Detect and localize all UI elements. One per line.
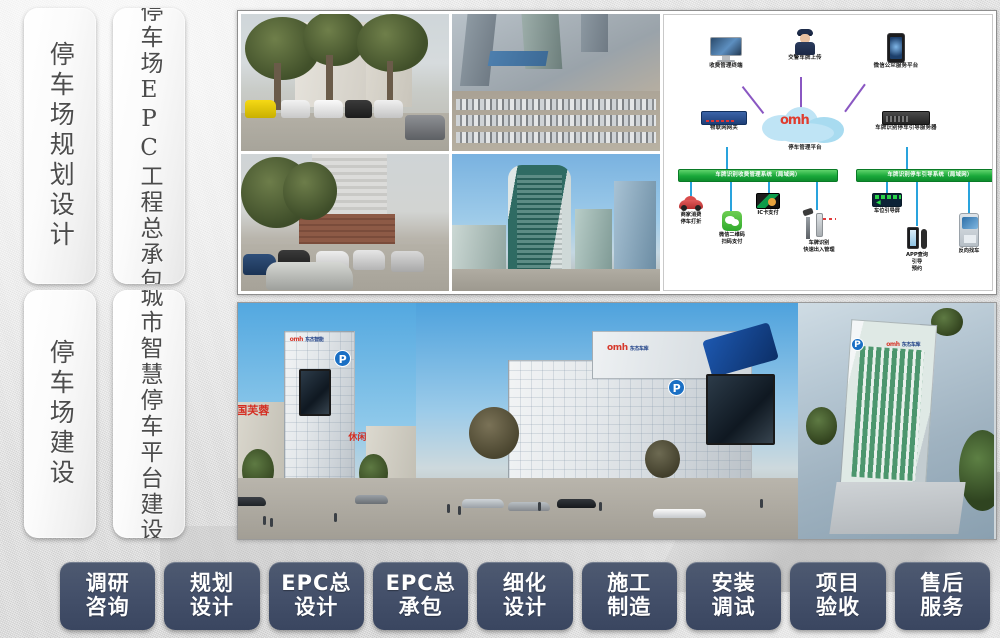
pill-line-2: 承包: [399, 596, 443, 620]
top-panel: omh 停车管理平台 收费管理终端 交警车牌上传 微信公众服务平台: [237, 10, 997, 295]
monitor-icon: [710, 37, 742, 62]
sidebar-card-label: 停车场建设: [45, 339, 76, 489]
nav-detailed-design[interactable]: 细化 设计: [477, 562, 572, 630]
wechat-icon: [722, 211, 742, 231]
sidebar-item-parking-epc-contract[interactable]: 停车场EPC工程总承包: [113, 8, 185, 284]
kiosk-icon: [959, 213, 979, 247]
node-label: 交警车牌上传: [759, 55, 851, 62]
pill-line-2: 设计: [190, 596, 234, 620]
service-app-query-guidance-booking: APP查询 引导 预约: [894, 225, 940, 273]
nav-planning-design[interactable]: 规划 设计: [164, 562, 259, 630]
sidebar-item-parking-planning-design[interactable]: 停车场规划设计: [24, 8, 96, 284]
pill-line-2: 咨询: [86, 596, 130, 620]
node-wechat-public-service-platform: 微信公众服务平台: [850, 33, 942, 70]
service-reverse-car-finding: 反向找车: [948, 213, 990, 255]
sidebar-vertical-cards: 停车场规划设计 停车场EPC工程总承包 停车场建设 城市智慧停车平台建设: [0, 0, 200, 546]
brand-logo: omh东杰智能: [290, 336, 324, 343]
photo-surface-lot-trees: [241, 14, 449, 151]
pill-line-2: 服务: [920, 596, 964, 620]
page-background: 停车场规划设计 停车场EPC工程总承包 停车场建设 城市智慧停车平台建设: [0, 0, 1000, 638]
led-screen-icon: [872, 193, 902, 207]
police-officer-icon: [794, 29, 816, 55]
app-phone-icon: [907, 225, 927, 251]
service-ic-card-payment: IC卡支付: [746, 193, 790, 217]
pill-line-2: 调试: [712, 596, 756, 620]
pill-line-1: 规划: [190, 572, 234, 596]
network-gateway-icon: [701, 111, 747, 125]
render-sign-2: 休闲: [348, 430, 366, 443]
parking-badge: P: [668, 379, 685, 396]
node-label: 物联网网关: [678, 125, 770, 132]
pill-line-1: EPC总: [386, 572, 456, 596]
photo-aerial-parking-lot: [452, 14, 660, 151]
process-step-nav: 调研 咨询 规划 设计 EPC总 设计 EPC总 承包 细化 设计 施工 制造 …: [60, 560, 990, 632]
nav-research-consulting[interactable]: 调研 咨询: [60, 562, 155, 630]
brand-logo: omh东杰车库: [607, 343, 648, 353]
cloud-platform-icon: omh: [760, 103, 850, 145]
brand-logo: omh东杰车库: [886, 341, 920, 348]
pill-line-2: 设计: [503, 596, 547, 620]
pill-line-1: 调研: [86, 572, 130, 596]
omh-cloud-logo: omh: [780, 113, 809, 128]
service-label: IC卡支付: [746, 210, 790, 217]
rack-server-icon: [882, 111, 930, 125]
pill-line-1: EPC总: [281, 572, 351, 596]
sidebar-card-label: 停车场EPC工程总承包: [135, 8, 163, 284]
nav-epc-contracting[interactable]: EPC总 承包: [373, 562, 468, 630]
ic-card-icon: [756, 193, 780, 209]
service-label: 车位引导屏: [864, 208, 910, 215]
parking-system-architecture-diagram: omh 停车管理平台 收费管理终端 交警车牌上传 微信公众服务平台: [663, 14, 993, 291]
render-garage-facade-led: omh东杰车库 P: [416, 303, 798, 539]
render-gallery: omh东杰智能 P 国芙蓉 休闲 omh东杰车库 P: [237, 302, 997, 540]
node-label: 收费管理终端: [680, 63, 772, 70]
service-plate-recognition-access: 车牌识别 快速出入管理: [794, 209, 844, 254]
nav-install-commission[interactable]: 安装 调试: [686, 562, 781, 630]
pill-line-2: 验收: [816, 596, 860, 620]
service-label: 车牌识别 快速出入管理: [794, 240, 844, 254]
node-iot-gateway: 物联网网关: [678, 111, 770, 132]
service-parking-guidance-screen: 车位引导屏: [864, 193, 910, 215]
node-plate-recognition-guidance-server: 车牌识别停车引导服务器: [852, 111, 960, 132]
nav-after-sales[interactable]: 售后 服务: [895, 562, 990, 630]
pill-line-1: 施工: [607, 572, 651, 596]
nav-epc-design[interactable]: EPC总 设计: [269, 562, 364, 630]
pill-line-1: 安装: [712, 572, 756, 596]
node-traffic-police-plate-upload: 交警车牌上传: [759, 29, 851, 62]
node-label: 微信公众服务平台: [850, 63, 942, 70]
nav-construction-mfg[interactable]: 施工 制造: [582, 562, 677, 630]
photo-lot-brick-building: [241, 154, 449, 291]
system-bar-plate-recognition-guidance-system: 车牌识别停车引导系统（局域网）: [856, 169, 993, 182]
pill-line-1: 项目: [816, 572, 860, 596]
service-label: 微信二维码 扫码支付: [708, 232, 756, 246]
smartphone-icon: [887, 33, 905, 63]
photo-gallery: [238, 11, 663, 294]
pill-line-1: 细化: [503, 572, 547, 596]
sidebar-card-label: 城市智慧停车平台建设: [135, 290, 163, 538]
pill-line-2: 制造: [607, 596, 651, 620]
sidebar-card-label: 停车场规划设计: [45, 41, 76, 251]
service-label: 反向找车: [948, 248, 990, 255]
system-bar-plate-recognition-toll-system: 车牌识别收费管理系统（局域网）: [678, 169, 838, 182]
sidebar-item-parking-construction[interactable]: 停车场建设: [24, 290, 96, 538]
pill-line-2: 设计: [294, 596, 338, 620]
render-aerial-tower-garage: P omh东杰车库: [798, 303, 994, 539]
barrier-gate-icon: [802, 209, 836, 239]
pill-line-1: 售后: [920, 572, 964, 596]
nav-project-acceptance[interactable]: 项目 验收: [790, 562, 885, 630]
render-sign-1: 国芙蓉: [238, 402, 269, 418]
red-car-icon: [679, 195, 703, 211]
render-tower-garage-street: omh东杰智能 P 国芙蓉 休闲: [238, 303, 416, 539]
node-label: 车牌识别停车引导服务器: [852, 125, 960, 132]
photo-glass-office-tower: [452, 154, 660, 291]
sidebar-item-smart-parking-platform[interactable]: 城市智慧停车平台建设: [113, 290, 185, 538]
cloud-platform-label: 停车管理平台: [760, 145, 850, 152]
service-label: APP查询 引导 预约: [894, 252, 940, 273]
